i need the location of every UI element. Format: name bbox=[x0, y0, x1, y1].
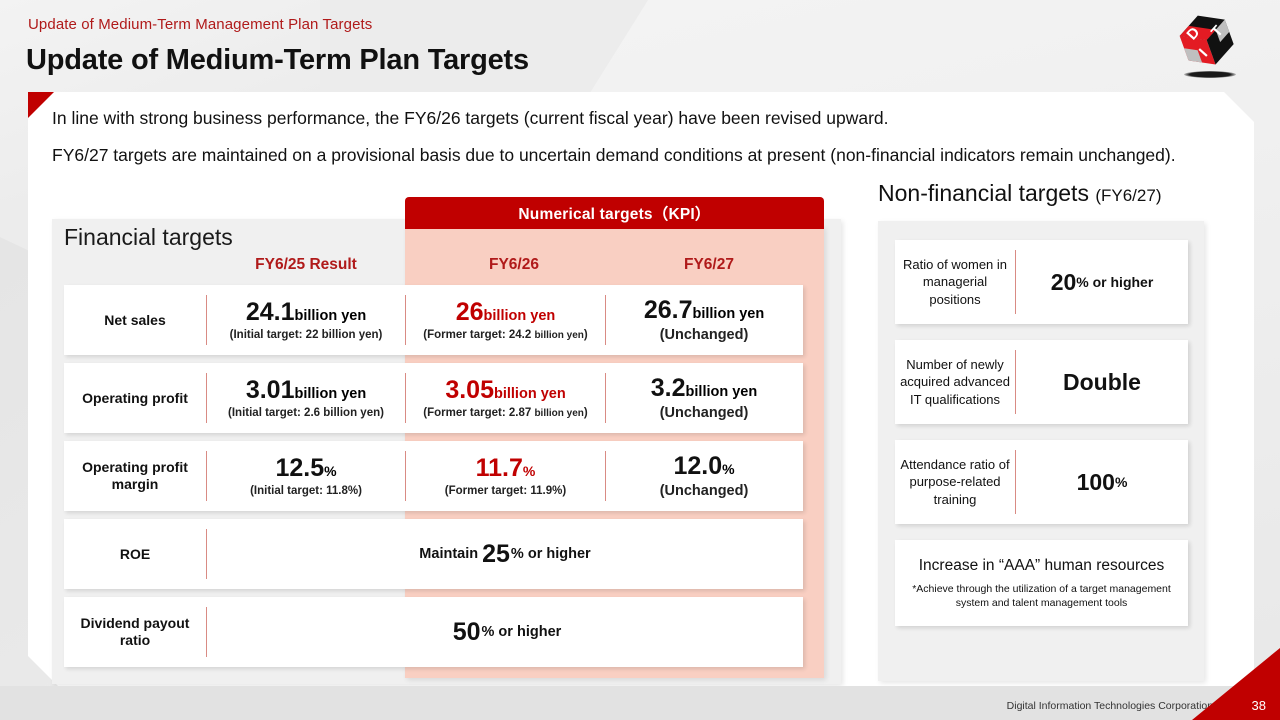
intro-block: In line with strong business performance… bbox=[52, 106, 1232, 168]
unit: % bbox=[722, 461, 734, 477]
unit: % bbox=[324, 463, 336, 479]
cube-icon: D I T bbox=[1174, 10, 1240, 72]
list-item: Increase in “AAA” human resources *Achie… bbox=[895, 540, 1188, 626]
card-value: 100% bbox=[1016, 440, 1188, 524]
cell-fy27: 12.0% (Unchanged) bbox=[606, 441, 802, 511]
subnote: (Unchanged) bbox=[660, 327, 749, 343]
page-title: Update of Medium-Term Plan Targets bbox=[26, 44, 529, 77]
cell-fy26: 11.7% (Former target: 11.9%) bbox=[406, 441, 605, 511]
tail-text: % or higher bbox=[482, 624, 562, 640]
value-big: 20 bbox=[1051, 269, 1077, 296]
slide-header: Update of Medium-Term Management Plan Ta… bbox=[0, 0, 1280, 88]
value: 26.7 bbox=[644, 296, 693, 324]
cell-result: 24.1billion yen (Initial target: 22 bill… bbox=[207, 285, 405, 355]
intro-line-1: In line with strong business performance… bbox=[52, 106, 1232, 131]
cell-span-value: Maintain25% or higher bbox=[207, 519, 803, 589]
value-big: 100 bbox=[1077, 469, 1115, 496]
footer-company: Digital Information Technologies Corpora… bbox=[1007, 700, 1216, 712]
nonfinancial-year: (FY6/27) bbox=[1095, 186, 1161, 205]
footer-red-triangle bbox=[1192, 648, 1280, 720]
column-header-fy26: FY6/26 bbox=[424, 256, 604, 274]
financial-targets-title: Financial targets bbox=[64, 224, 233, 251]
card-label: Attendance ratio of purpose-related trai… bbox=[895, 440, 1015, 524]
card-note: *Achieve through the utilization of a ta… bbox=[905, 582, 1178, 610]
value: 12.5 bbox=[275, 454, 324, 482]
card-label: Number of newly acquired advanced IT qua… bbox=[895, 340, 1015, 424]
table-row: Dividend payout ratio 50% or higher bbox=[64, 597, 803, 667]
tail-text: % or higher bbox=[511, 546, 591, 562]
value-small: % or higher bbox=[1076, 274, 1153, 290]
value-small: % bbox=[1115, 474, 1127, 490]
table-row: ROE Maintain25% or higher bbox=[64, 519, 803, 589]
card-value: 20% or higher bbox=[1016, 240, 1188, 324]
subnote: (Former target: 24.2 billion yen) bbox=[423, 329, 588, 341]
unit: billion yen bbox=[686, 384, 758, 400]
subnote: (Initial target: 22 billion yen) bbox=[230, 329, 383, 341]
column-header-fy27: FY6/27 bbox=[619, 256, 799, 274]
value: 11.7 bbox=[476, 454, 523, 482]
unit: billion yen bbox=[494, 386, 566, 402]
table-row: Operating profit margin 12.5% (Initial t… bbox=[64, 441, 803, 511]
unit: billion yen bbox=[484, 308, 556, 324]
cell-fy26: 3.05billion yen (Former target: 2.87 bil… bbox=[406, 363, 605, 433]
unit: billion yen bbox=[294, 386, 366, 402]
kpi-header: Numerical targets（KPI） bbox=[405, 197, 824, 229]
table-row: Net sales 24.1billion yen (Initial targe… bbox=[64, 285, 803, 355]
red-corner-accent bbox=[28, 92, 54, 118]
cell-fy27: 3.2billion yen (Unchanged) bbox=[606, 363, 802, 433]
value: 3.2 bbox=[651, 374, 686, 402]
cell-result: 12.5% (Initial target: 11.8%) bbox=[207, 441, 405, 511]
subnote: (Unchanged) bbox=[660, 405, 749, 421]
value-big: Double bbox=[1063, 369, 1141, 396]
cell-span-value: 50% or higher bbox=[207, 597, 803, 667]
value: 50 bbox=[453, 618, 481, 647]
financial-rows: Net sales 24.1billion yen (Initial targe… bbox=[64, 285, 803, 675]
unit: billion yen bbox=[692, 306, 764, 322]
cell-fy26: 26billion yen (Former target: 24.2 billi… bbox=[406, 285, 605, 355]
value: 3.01 bbox=[246, 376, 295, 404]
cell-fy27: 26.7billion yen (Unchanged) bbox=[606, 285, 802, 355]
row-label: Operating profit bbox=[64, 363, 206, 433]
subnote: (Former target: 2.87 billion yen) bbox=[423, 407, 588, 419]
subnote: (Former target: 11.9%) bbox=[445, 485, 566, 497]
subnote: (Initial target: 2.6 billion yen) bbox=[228, 407, 384, 419]
subnote: (Initial target: 11.8%) bbox=[250, 485, 362, 497]
column-header-result: FY6/25 Result bbox=[206, 256, 406, 274]
value: 3.05 bbox=[445, 376, 494, 404]
nonfinancial-title: Non-financial targets (FY6/27) bbox=[878, 180, 1161, 207]
intro-line-2: FY6/27 targets are maintained on a provi… bbox=[52, 143, 1232, 168]
logo-shadow bbox=[1184, 71, 1236, 78]
card-value: Double bbox=[1016, 340, 1188, 424]
row-label: Operating profit margin bbox=[64, 441, 206, 511]
value: 25 bbox=[482, 540, 510, 569]
subnote: (Unchanged) bbox=[660, 483, 749, 499]
lead-text: Maintain bbox=[419, 546, 478, 562]
list-item: Attendance ratio of purpose-related trai… bbox=[895, 440, 1188, 524]
kicker-text: Update of Medium-Term Management Plan Ta… bbox=[28, 16, 372, 33]
value: 26 bbox=[456, 298, 484, 326]
unit: billion yen bbox=[294, 308, 366, 324]
value: 24.1 bbox=[246, 298, 295, 326]
row-label: ROE bbox=[64, 519, 206, 589]
cell-result: 3.01billion yen (Initial target: 2.6 bil… bbox=[207, 363, 405, 433]
table-row: Operating profit 3.01billion yen (Initia… bbox=[64, 363, 803, 433]
row-label: Dividend payout ratio bbox=[64, 597, 206, 667]
card-label: Ratio of women in managerial positions bbox=[895, 240, 1015, 324]
value: 12.0 bbox=[673, 452, 722, 480]
card-title: Increase in “AAA” human resources bbox=[919, 556, 1165, 576]
nonfinancial-title-text: Non-financial targets bbox=[878, 180, 1089, 206]
list-item: Ratio of women in managerial positions 2… bbox=[895, 240, 1188, 324]
unit: % bbox=[523, 463, 535, 479]
row-label: Net sales bbox=[64, 285, 206, 355]
dit-logo: D I T bbox=[1168, 8, 1244, 82]
list-item: Number of newly acquired advanced IT qua… bbox=[895, 340, 1188, 424]
nonfinancial-card-list: Ratio of women in managerial positions 2… bbox=[895, 240, 1188, 642]
page-number: 38 bbox=[1252, 698, 1266, 713]
